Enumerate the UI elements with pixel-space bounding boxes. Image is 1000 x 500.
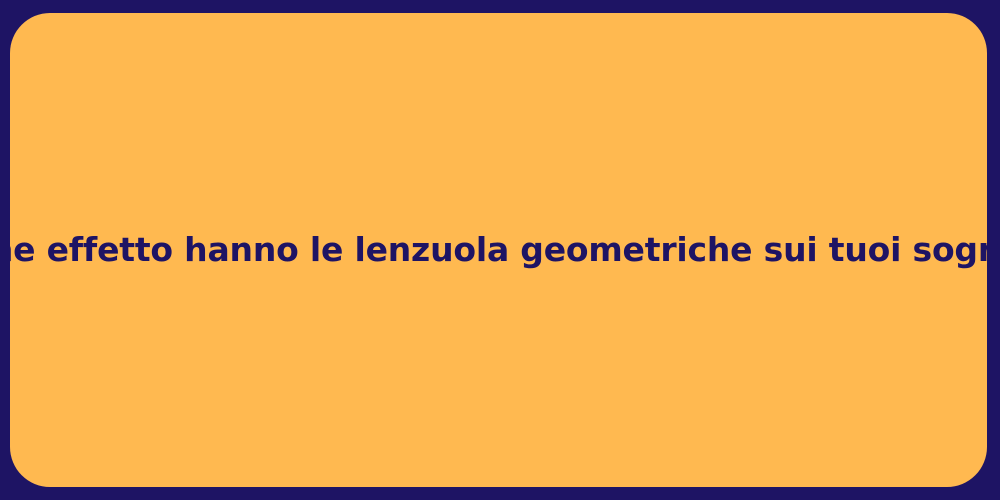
quote-card: Che effetto hanno le lenzuola geometrich… xyxy=(10,13,987,487)
outer-frame: Che effetto hanno le lenzuola geometrich… xyxy=(0,0,1000,500)
quote-question-text: Che effetto hanno le lenzuola geometrich… xyxy=(0,229,1000,270)
